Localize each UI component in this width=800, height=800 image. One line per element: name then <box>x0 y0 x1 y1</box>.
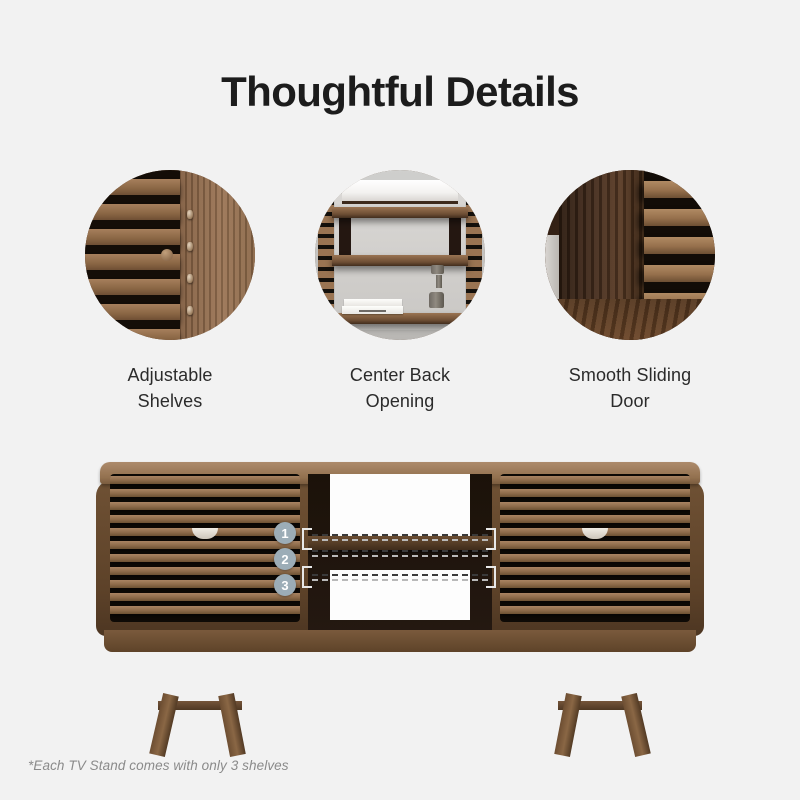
door-finger-pull-right[interactable] <box>582 528 608 539</box>
slat-gap <box>644 198 715 209</box>
slat <box>110 476 300 484</box>
slat <box>500 606 690 614</box>
slat-gap <box>644 282 715 293</box>
slat-gap <box>85 220 180 229</box>
slat <box>110 489 300 497</box>
caption-line-1: Center Back <box>350 362 450 388</box>
shelf-bracket-right-1 <box>486 528 496 550</box>
slat <box>500 541 690 549</box>
caption-line-2: Shelves <box>127 388 212 414</box>
stand-plinth <box>104 630 696 652</box>
shelf-pin-hole <box>187 274 193 283</box>
slat <box>500 567 690 575</box>
center-back-panel-lower <box>330 570 470 620</box>
slat-gap <box>85 320 180 329</box>
shelf-marker-1: 1 <box>274 522 296 544</box>
slat <box>110 541 300 549</box>
slat-gap <box>644 170 715 181</box>
caption-line-1: Adjustable <box>127 362 212 388</box>
slat <box>110 606 300 614</box>
slat <box>110 502 300 510</box>
slat <box>500 515 690 523</box>
slat <box>644 237 715 254</box>
door-finger-pull-left[interactable] <box>192 528 218 539</box>
slat <box>110 593 300 601</box>
slat <box>85 179 180 195</box>
feature-caption-adjustable-shelves: Adjustable Shelves <box>127 362 212 414</box>
feature-smooth-sliding-door: Smooth Sliding Door <box>545 170 715 414</box>
footnote: *Each TV Stand comes with only 3 shelves <box>28 758 289 773</box>
slat-gap <box>85 295 180 304</box>
slat <box>500 580 690 588</box>
page-title: Thoughtful Details <box>0 68 800 116</box>
slat <box>85 204 180 220</box>
shelf-marker-3: 3 <box>274 574 296 596</box>
slat <box>644 181 715 198</box>
feature-adjustable-shelves: Adjustable Shelves <box>85 170 255 414</box>
middle-shelf <box>332 255 468 266</box>
vase-base <box>429 292 444 308</box>
leg-front-right <box>621 693 651 757</box>
slat <box>500 593 690 601</box>
tv-stand-illustration: 1 2 3 <box>96 462 704 702</box>
shelf-marker-2: 2 <box>274 548 296 570</box>
shelf-bracket-left-3 <box>302 566 312 588</box>
shelf-position-line-3 <box>312 574 488 576</box>
feature-row: Adjustable Shelves Center Back Opening <box>0 170 800 414</box>
feature-image-smooth-sliding-door <box>545 170 715 340</box>
slat-gap <box>644 254 715 265</box>
upper-shelf <box>332 207 468 218</box>
slat <box>500 502 690 510</box>
caption-line-2: Opening <box>350 388 450 414</box>
slat <box>500 476 690 484</box>
shelf-position-line-2-highlight <box>312 555 488 557</box>
slat <box>110 515 300 523</box>
feature-image-adjustable-shelves <box>85 170 255 340</box>
shelf-bracket-right-3 <box>486 566 496 588</box>
shelf-bracket-left-1 <box>302 528 312 550</box>
slat <box>85 279 180 295</box>
shelf-pin-hole <box>187 242 193 251</box>
sliding-door-left[interactable] <box>110 474 300 622</box>
vase-top <box>431 265 444 274</box>
shelf-pin-hole <box>187 306 193 315</box>
shelf-position-line-1-highlight <box>312 539 488 541</box>
shelf-position-line-1 <box>312 534 488 536</box>
feature-center-back-opening: Center Back Opening <box>315 170 485 414</box>
lower-shelf <box>332 313 468 324</box>
shelf-position-line-2 <box>312 550 488 552</box>
sliding-door-right[interactable] <box>500 474 690 622</box>
shelf-position-line-3-highlight <box>312 579 488 581</box>
right-slat-side <box>466 187 481 333</box>
wood-side-panel <box>173 170 255 340</box>
slat-gap <box>85 270 180 279</box>
feature-caption-center-back-opening: Center Back Opening <box>350 362 450 414</box>
slat <box>644 209 715 226</box>
slat <box>110 567 300 575</box>
slat <box>110 554 300 562</box>
feature-image-center-back-opening <box>315 170 485 340</box>
slat-gap <box>85 170 180 179</box>
center-open-compartment <box>308 474 492 634</box>
center-back-panel-upper <box>330 474 470 536</box>
slat <box>644 265 715 282</box>
floor-surface <box>545 299 715 340</box>
vase-neck <box>436 275 442 288</box>
slat <box>85 304 180 320</box>
slat <box>85 229 180 245</box>
slat <box>500 489 690 497</box>
book-title-line <box>359 310 386 312</box>
slat <box>85 329 180 340</box>
slat-gap <box>644 226 715 237</box>
slat <box>500 554 690 562</box>
shelf-pin-knob <box>161 249 173 261</box>
caption-line-2: Door <box>569 388 691 414</box>
shelf-pin-hole <box>187 210 193 219</box>
slat-gap <box>85 195 180 204</box>
top-back-opening <box>342 180 458 203</box>
caption-line-1: Smooth Sliding <box>569 362 691 388</box>
slat <box>110 580 300 588</box>
leg-front-left <box>149 693 179 757</box>
feature-caption-smooth-sliding-door: Smooth Sliding Door <box>569 362 691 414</box>
